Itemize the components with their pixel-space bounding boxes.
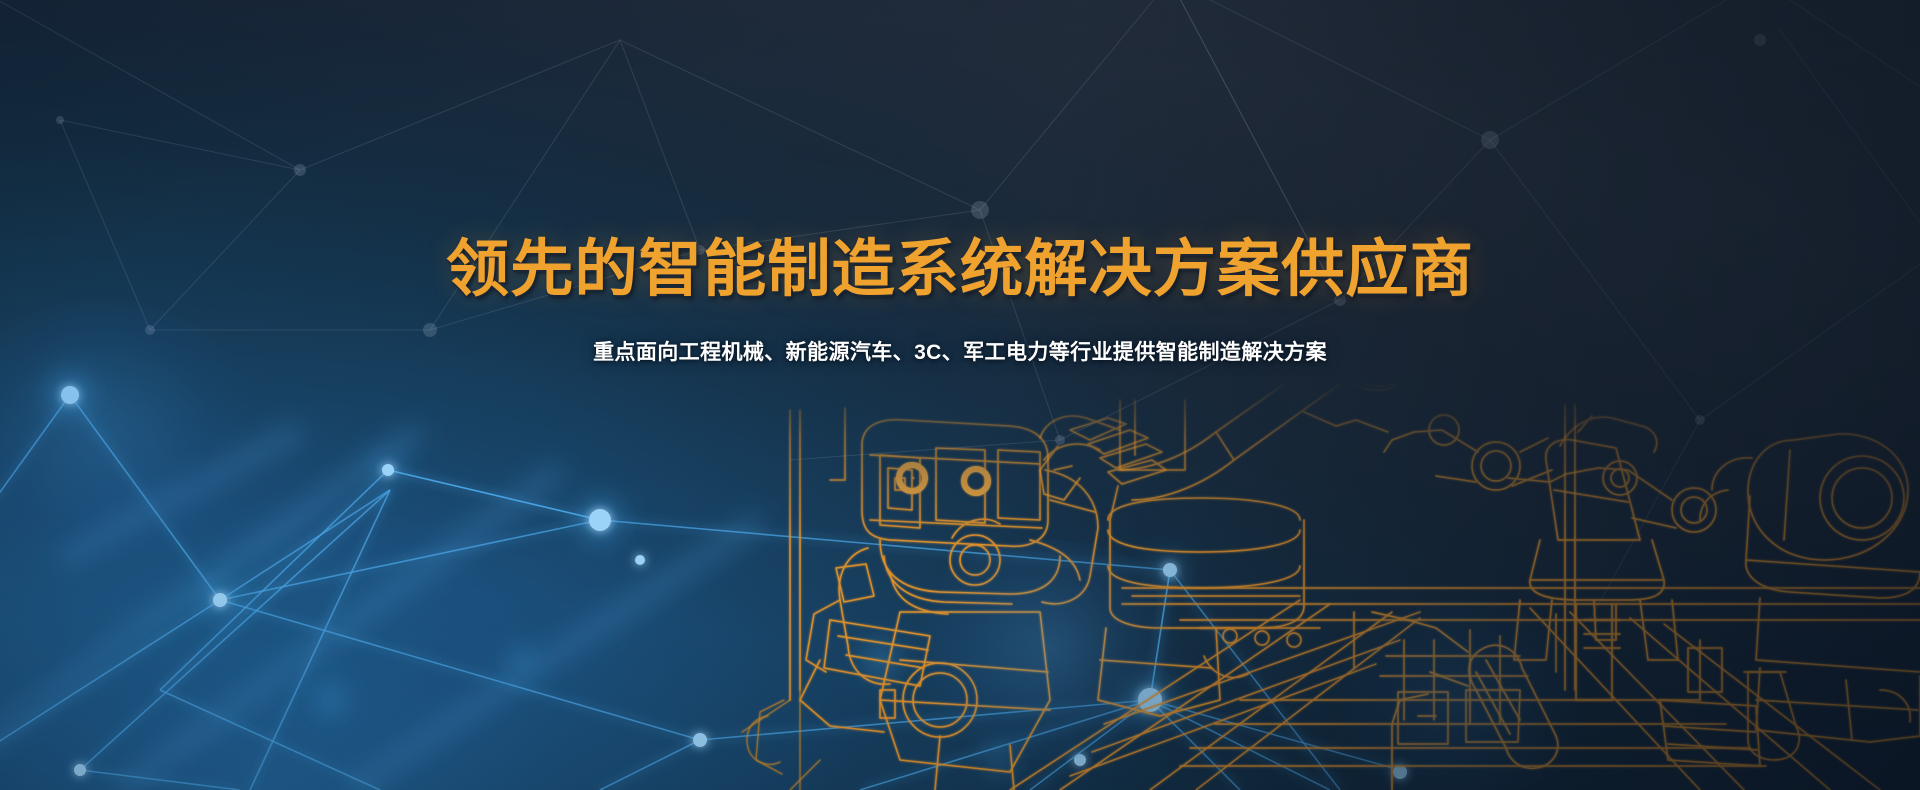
banner-copy: 领先的智能制造系统解决方案供应商 重点面向工程机械、新能源汽车、3C、军工电力等…: [0, 0, 1920, 366]
page-title: 领先的智能制造系统解决方案供应商: [0, 0, 1920, 302]
hero-banner: 领先的智能制造系统解决方案供应商 重点面向工程机械、新能源汽车、3C、军工电力等…: [0, 0, 1920, 790]
page-subtitle: 重点面向工程机械、新能源汽车、3C、军工电力等行业提供智能制造解决方案: [0, 302, 1920, 366]
